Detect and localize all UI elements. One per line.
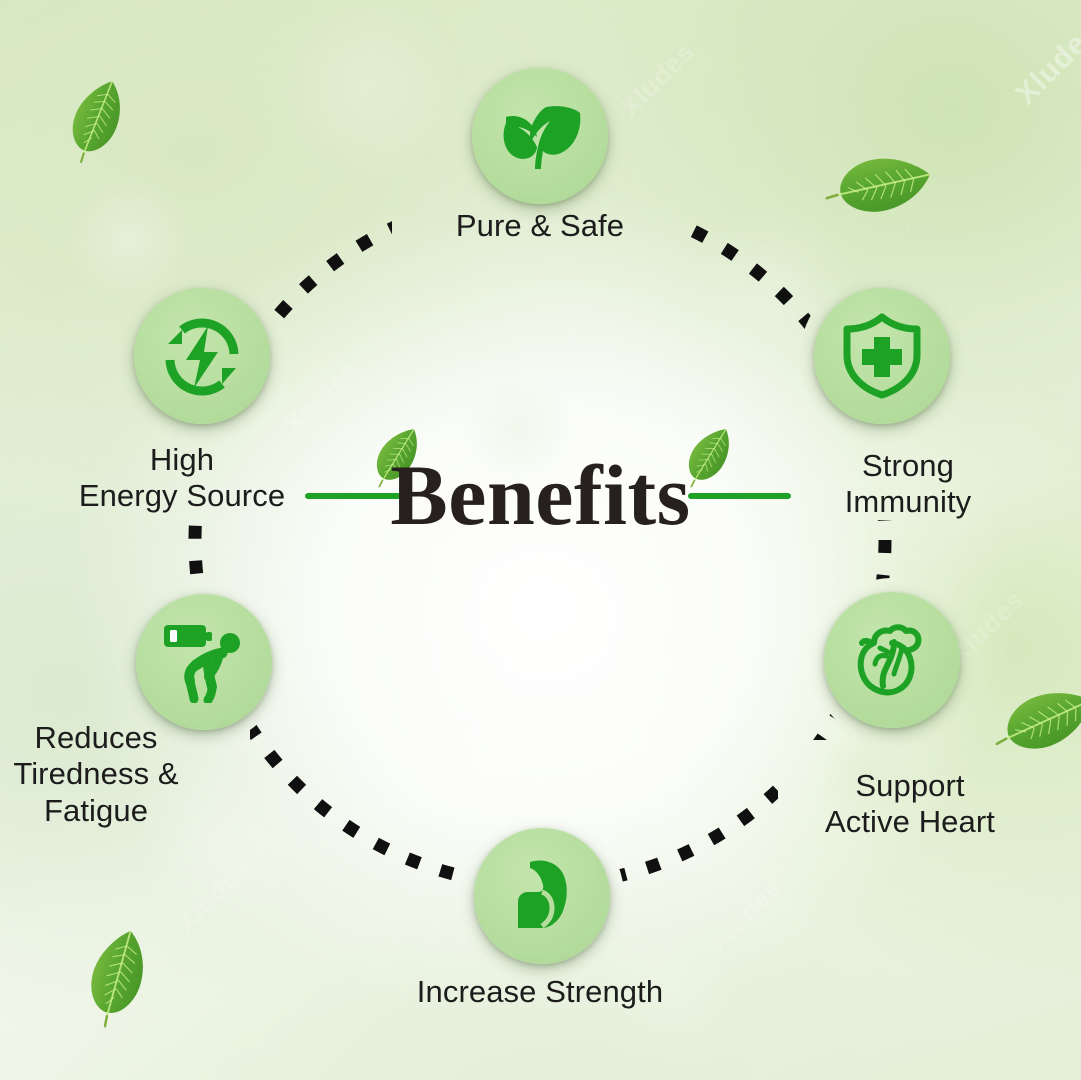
benefit-node-reduces-tiredness-fatigue[interactable] [136,594,272,730]
anatomical-heart-icon [824,592,960,728]
two-leaves-icon [472,68,608,204]
benefit-label-increase-strength: Increase Strength [350,974,730,1010]
benefit-node-increase-strength[interactable] [474,828,610,964]
lightning-recycle-icon [134,288,270,424]
benefit-label-high-energy-source: High Energy Source [0,442,372,515]
flexed-bicep-icon [474,828,610,964]
benefit-label-reduces-tiredness-fatigue: Reduces Tiredness & Fatigue [0,720,286,829]
benefit-node-high-energy-source[interactable] [134,288,270,424]
benefit-node-pure-safe[interactable] [472,68,608,204]
benefits-infographic: XludesXludesXludesXludesXludesXludesXlud… [0,0,1081,1080]
shield-plus-icon [814,288,950,424]
tired-person-low-battery-icon [136,594,272,730]
benefit-node-support-active-heart[interactable] [824,592,960,728]
benefit-label-support-active-heart: Support Active Heart [720,768,1081,841]
benefit-label-pure-safe: Pure & Safe [350,208,730,244]
benefit-label-strong-immunity: Strong Immunity [718,448,1081,521]
benefit-node-strong-immunity[interactable] [814,288,950,424]
